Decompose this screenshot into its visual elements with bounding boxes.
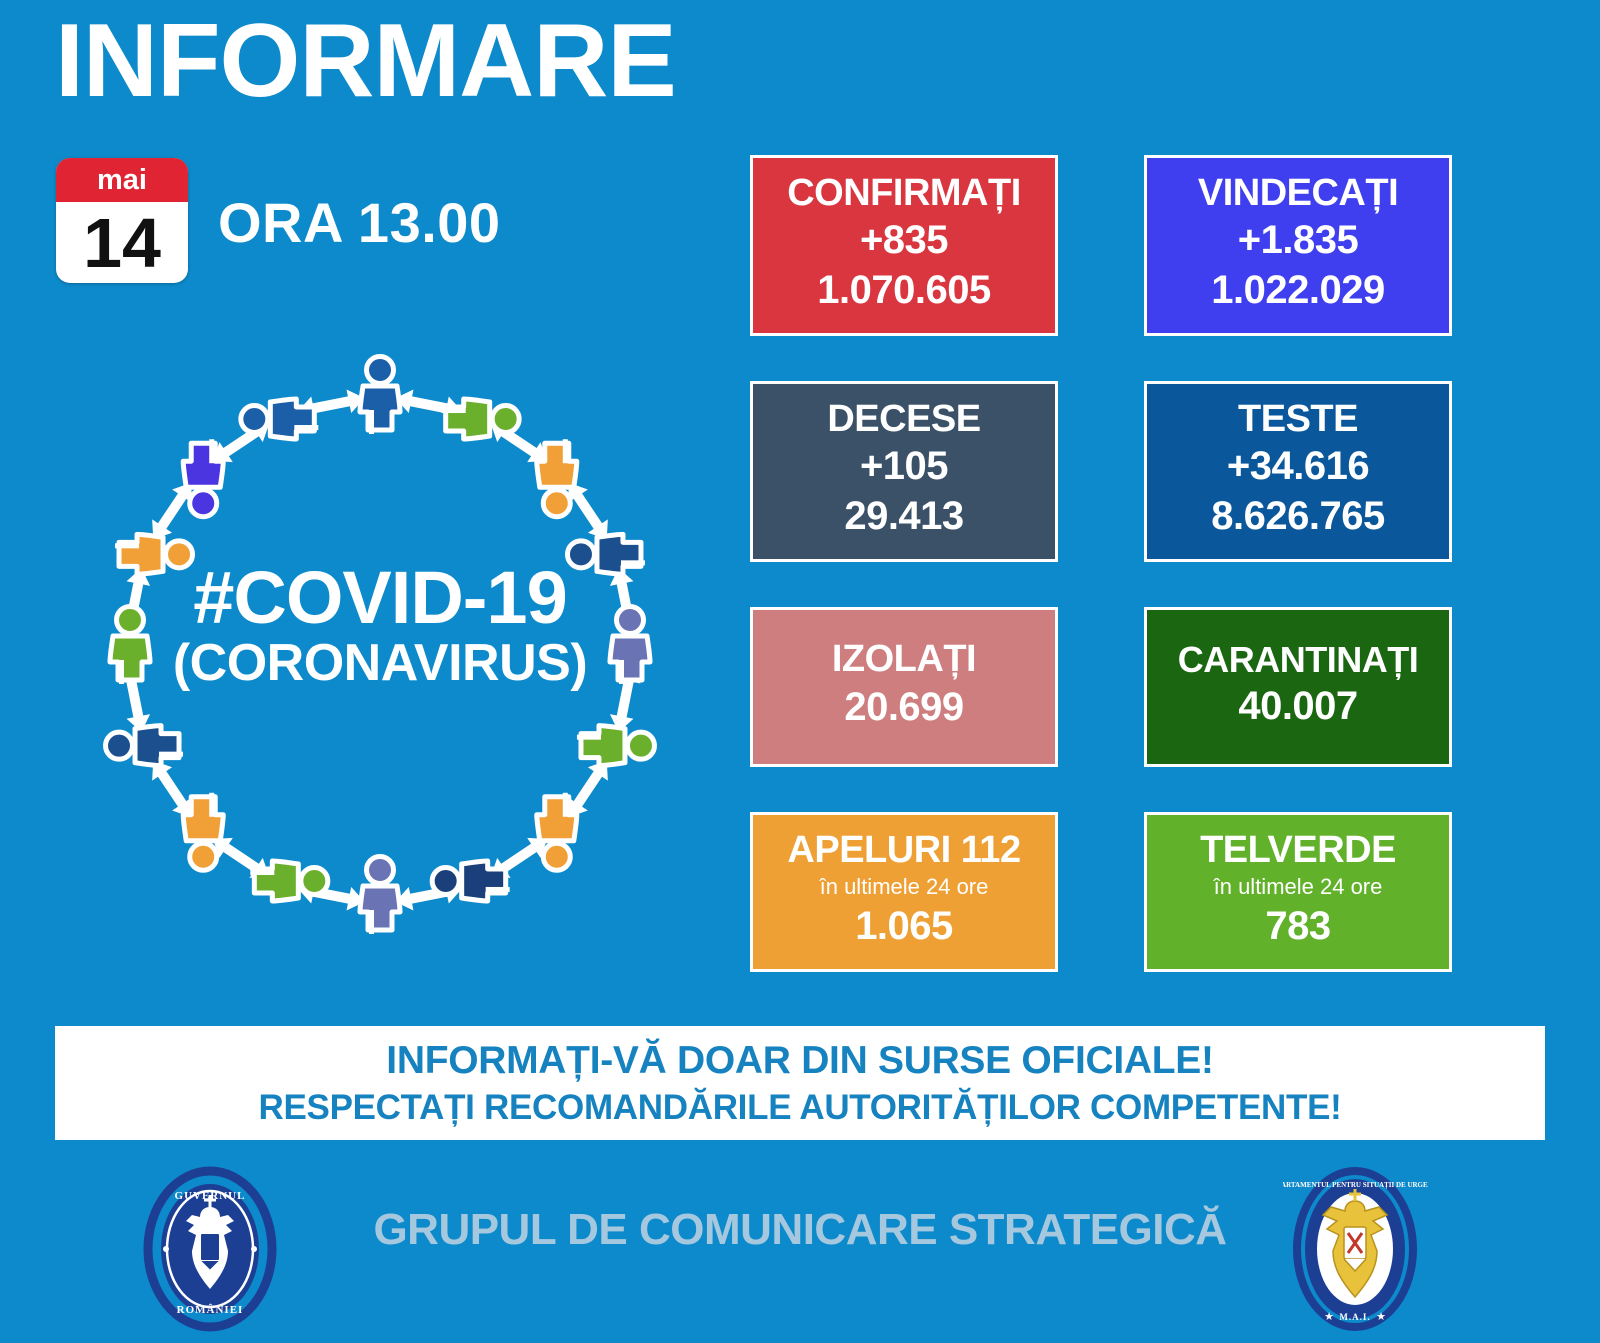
stat-delta-vindecati: +1.835 [1238, 215, 1358, 265]
dsu-seal-text-top: DEPARTAMENTUL PENTRU SITUAȚII DE URGENȚĂ [1283, 1181, 1428, 1189]
stat-box-decese: DECESE +105 29.413 [750, 381, 1058, 562]
stat-total-vindecati: 1.022.029 [1211, 265, 1384, 315]
calendar-day-label: 14 [56, 202, 188, 283]
calendar-month-label: mai [56, 158, 188, 202]
stat-box-teste: TESTE +34.616 8.626.765 [1144, 381, 1452, 562]
footer: GUVERNUL ROMÂNIEI GRUPUL DE COMUNICARE S… [0, 1155, 1600, 1343]
stat-total-decese: 29.413 [844, 491, 963, 541]
social-distancing-circle-graphic [60, 330, 700, 970]
stat-box-confirmati: CONFIRMAȚI +835 1.070.605 [750, 155, 1058, 336]
stat-total-confirmati: 1.070.605 [817, 265, 990, 315]
stat-delta-confirmati: +835 [860, 215, 948, 265]
stat-total-teste: 8.626.765 [1211, 491, 1384, 541]
stat-total-izolati: 20.699 [844, 682, 963, 732]
hour-label: ORA 13.00 [218, 190, 501, 255]
gov-seal-text-top: GUVERNUL [175, 1190, 246, 1202]
stat-label-carantinati: CARANTINAȚI [1178, 639, 1418, 680]
stat-total-apeluri-112: 1.065 [855, 901, 953, 951]
dsu-seal-icon: DEPARTAMENTUL PENTRU SITUAȚII DE URGENȚĂ… [1283, 1165, 1428, 1333]
stat-label-confirmati: CONFIRMAȚI [787, 172, 1021, 216]
advice-line-1: INFORMAȚI-VĂ DOAR DIN SURSE OFICIALE! [386, 1037, 1213, 1086]
stat-delta-decese: +105 [860, 441, 948, 491]
stat-label-telverde: TELVERDE [1200, 829, 1396, 873]
calendar-icon: mai 14 [56, 158, 188, 283]
advice-line-2: RESPECTAȚI RECOMANDĂRILE AUTORITĂȚILOR C… [259, 1086, 1342, 1130]
person-ring [106, 357, 655, 935]
stat-label-apeluri-112: APELURI 112 [787, 829, 1020, 873]
stat-label-teste: TESTE [1238, 398, 1358, 442]
dsu-seal-text-bottom: M.A.I. [1339, 1312, 1370, 1322]
page-title: INFORMARE [55, 4, 676, 118]
stat-box-telverde: TELVERDE în ultimele 24 ore 783 [1144, 812, 1452, 972]
stat-total-carantinati: 40.007 [1238, 681, 1357, 731]
stat-total-telverde: 783 [1265, 901, 1330, 951]
stat-box-izolati: IZOLAȚI 20.699 [750, 607, 1058, 767]
advice-banner: INFORMAȚI-VĂ DOAR DIN SURSE OFICIALE! RE… [55, 1026, 1545, 1140]
stat-sub-telverde: în ultimele 24 ore [1214, 874, 1383, 900]
stat-sub-apeluri-112: în ultimele 24 ore [820, 874, 989, 900]
stat-box-carantinati: CARANTINAȚI 40.007 [1144, 607, 1452, 767]
stat-box-apeluri-112: APELURI 112 în ultimele 24 ore 1.065 [750, 812, 1058, 972]
stat-label-vindecati: VINDECAȚI [1198, 172, 1398, 216]
stat-label-izolati: IZOLAȚI [832, 638, 976, 682]
statistics-grid: CONFIRMAȚI +835 1.070.605 VINDECAȚI +1.8… [750, 155, 1460, 972]
dsu-star-left: ★ [1324, 1311, 1334, 1323]
gov-seal-text-bottom: ROMÂNIEI [177, 1304, 244, 1316]
stat-delta-teste: +34.616 [1227, 441, 1369, 491]
dsu-star-right: ★ [1376, 1311, 1386, 1323]
stat-box-vindecati: VINDECAȚI +1.835 1.022.029 [1144, 155, 1452, 336]
stat-label-decese: DECESE [827, 398, 980, 442]
